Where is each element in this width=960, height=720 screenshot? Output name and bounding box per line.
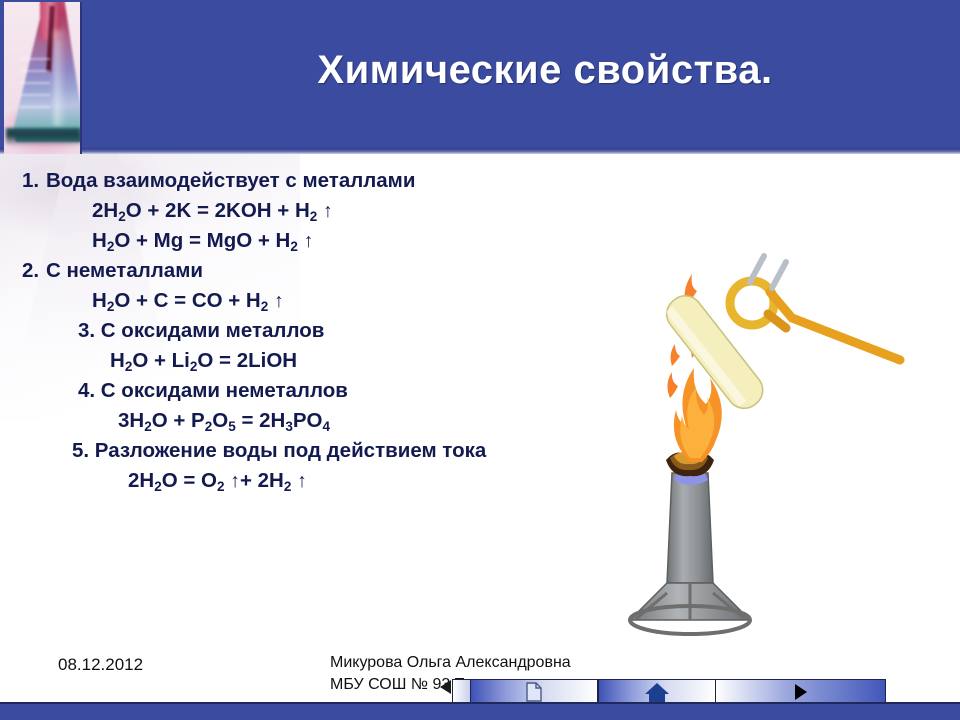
list-item-text: 5. Разложение воды под действием тока: [0, 436, 486, 466]
content-line: 3. С оксидами металлов: [0, 316, 660, 346]
presentation-slide: Химические свойства. 1.Вода взаимодейств…: [0, 0, 960, 720]
list-number: 1.: [0, 166, 46, 196]
content-line: 5. Разложение воды под действием тока: [0, 436, 660, 466]
list-number: 2.: [0, 256, 46, 286]
burner-stand: [630, 473, 750, 634]
list-item-text: Вода взаимодействует с металлами: [46, 169, 415, 192]
back-arrow-icon[interactable]: [440, 680, 451, 694]
document-icon: [526, 682, 542, 702]
list-item-text: 4. С оксидами неметаллов: [0, 376, 348, 406]
list-item-text: С неметаллами: [46, 259, 203, 282]
content-line: 3H2O + P2O5 = 2H3PO4: [0, 406, 660, 436]
slide-bottom-bar: [0, 702, 960, 720]
content-line: 2H2O = O2 ↑+ 2H2 ↑: [0, 466, 660, 496]
footer-author-line-1: Микурова Ольга Александровна: [330, 652, 571, 674]
home-icon: [644, 681, 670, 703]
content-line: H2O + Li2O = 2LiOH: [0, 346, 660, 376]
content-line: 1.Вода взаимодействует с металлами: [0, 166, 660, 196]
bunsen-burner-illustration: [600, 248, 930, 648]
flame-lick-1: [667, 372, 678, 398]
slide-body-text: 1.Вода взаимодействует с металлами2H2O +…: [0, 166, 660, 536]
content-line: 2H2O + 2K = 2KOH + H2 ↑: [0, 196, 660, 226]
content-line: 2.С неметаллами: [0, 256, 660, 286]
play-forward-icon: [792, 683, 810, 701]
chemical-equation: 2H2O = O2 ↑+ 2H2 ↑: [0, 466, 307, 502]
content-line: H2O + Mg = MgO + H2 ↑: [0, 226, 660, 256]
flame-lick-2: [671, 344, 680, 366]
flask-photo-thumbnail: [4, 2, 82, 154]
page-title: Химические свойства.: [150, 48, 940, 93]
list-item-text: 3. С оксидами металлов: [0, 316, 324, 346]
tongs: [730, 281, 900, 360]
footer-date: 08.12.2012: [58, 655, 143, 675]
content-line: 4. С оксидами неметаллов: [0, 376, 660, 406]
slide-header-shadow: [0, 148, 960, 154]
content-line: H2O + C = CO + H2 ↑: [0, 286, 660, 316]
